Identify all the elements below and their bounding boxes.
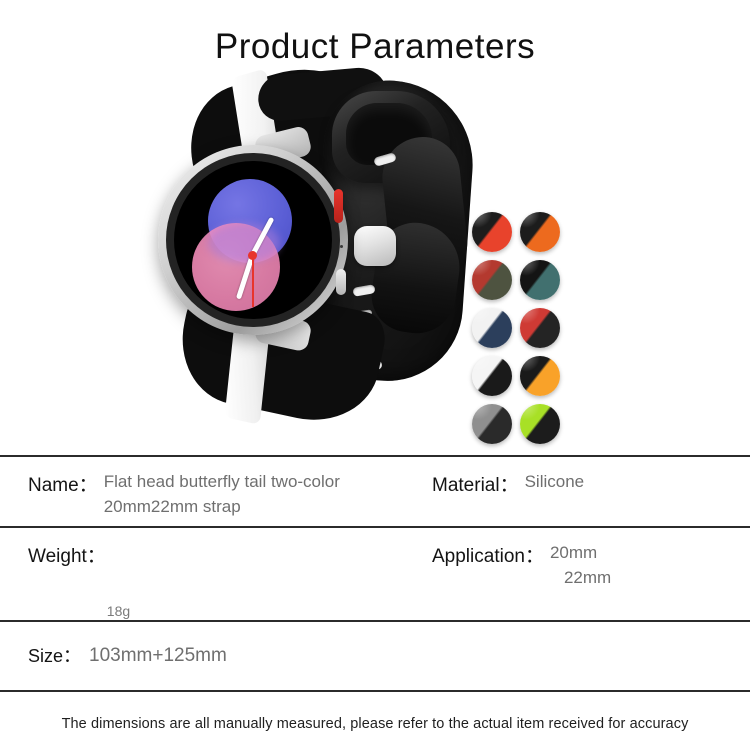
disclaimer-text: The dimensions are all manually measured…	[0, 692, 750, 732]
color-swatch-white-navy[interactable]	[472, 308, 512, 348]
color-swatch-black-orange[interactable]	[520, 212, 560, 252]
watch-hand-second	[252, 255, 254, 307]
color-swatch-grid	[472, 212, 568, 452]
color-swatch-black-teal[interactable]	[520, 260, 560, 300]
color-swatch-red-olive[interactable]	[472, 260, 512, 300]
spec-cell-material: Material： Silicone	[420, 457, 750, 526]
spec-label-name: Name：	[28, 470, 98, 497]
color-swatch-black-red[interactable]	[472, 212, 512, 252]
table-row-name: Name： Flat head butterfly tail two-color…	[0, 457, 750, 526]
color-swatch-green-black[interactable]	[520, 404, 560, 444]
spec-cell-weight: Weight： 18g	[0, 528, 420, 620]
swatch-cell[interactable]	[472, 356, 520, 404]
watch-button-red	[334, 189, 343, 223]
spec-value-name: Flat head butterfly tail two-color 20mm2…	[98, 470, 420, 519]
table-row-weight: Weight： 18g Application： 20mm 22mm	[0, 528, 750, 620]
product-image-area	[0, 73, 750, 428]
spec-cell-application: Application： 20mm 22mm	[420, 528, 750, 620]
color-swatch-black-amber[interactable]	[520, 356, 560, 396]
swatch-cell[interactable]	[472, 404, 520, 452]
swatch-cell[interactable]	[520, 212, 568, 260]
application-line-1: 20mm	[550, 541, 611, 566]
swatch-cell[interactable]	[520, 308, 568, 356]
spec-value-material: Silicone	[519, 470, 585, 495]
spec-label-weight: Weight：	[28, 541, 106, 568]
product-photo	[150, 73, 470, 423]
watch-screen	[174, 161, 332, 319]
spec-cell-size: Size： 103mm+125mm	[0, 622, 420, 690]
swatch-cell[interactable]	[520, 356, 568, 404]
page-title: Product Parameters	[0, 0, 750, 67]
swatch-cell[interactable]	[472, 260, 520, 308]
watch-button-silver	[336, 269, 346, 295]
swatch-cell[interactable]	[520, 404, 568, 452]
swatch-cell[interactable]	[520, 260, 568, 308]
color-swatch-grey-darkgrey[interactable]	[472, 404, 512, 444]
spec-value-weight: 18g	[106, 603, 130, 620]
spec-value-application: 20mm 22mm	[544, 541, 611, 590]
spec-value-size: 103mm+125mm	[81, 642, 227, 670]
spec-label-size: Size：	[28, 642, 81, 668]
spec-label-material: Material：	[432, 470, 519, 497]
application-line-2: 22mm	[550, 566, 611, 591]
spec-label-application: Application：	[432, 541, 544, 568]
strap-keeper-silver	[354, 226, 396, 266]
spec-cell-name: Name： Flat head butterfly tail two-color…	[0, 457, 420, 526]
color-swatch-white-black[interactable]	[472, 356, 512, 396]
swatch-cell[interactable]	[472, 308, 520, 356]
table-row-size: Size： 103mm+125mm	[0, 622, 750, 690]
color-swatch-red-black[interactable]	[520, 308, 560, 348]
watch-dial-pivot	[248, 251, 257, 260]
watch-microphone	[340, 245, 343, 248]
swatch-cell[interactable]	[472, 212, 520, 260]
spec-table: Name： Flat head butterfly tail two-color…	[0, 455, 750, 732]
